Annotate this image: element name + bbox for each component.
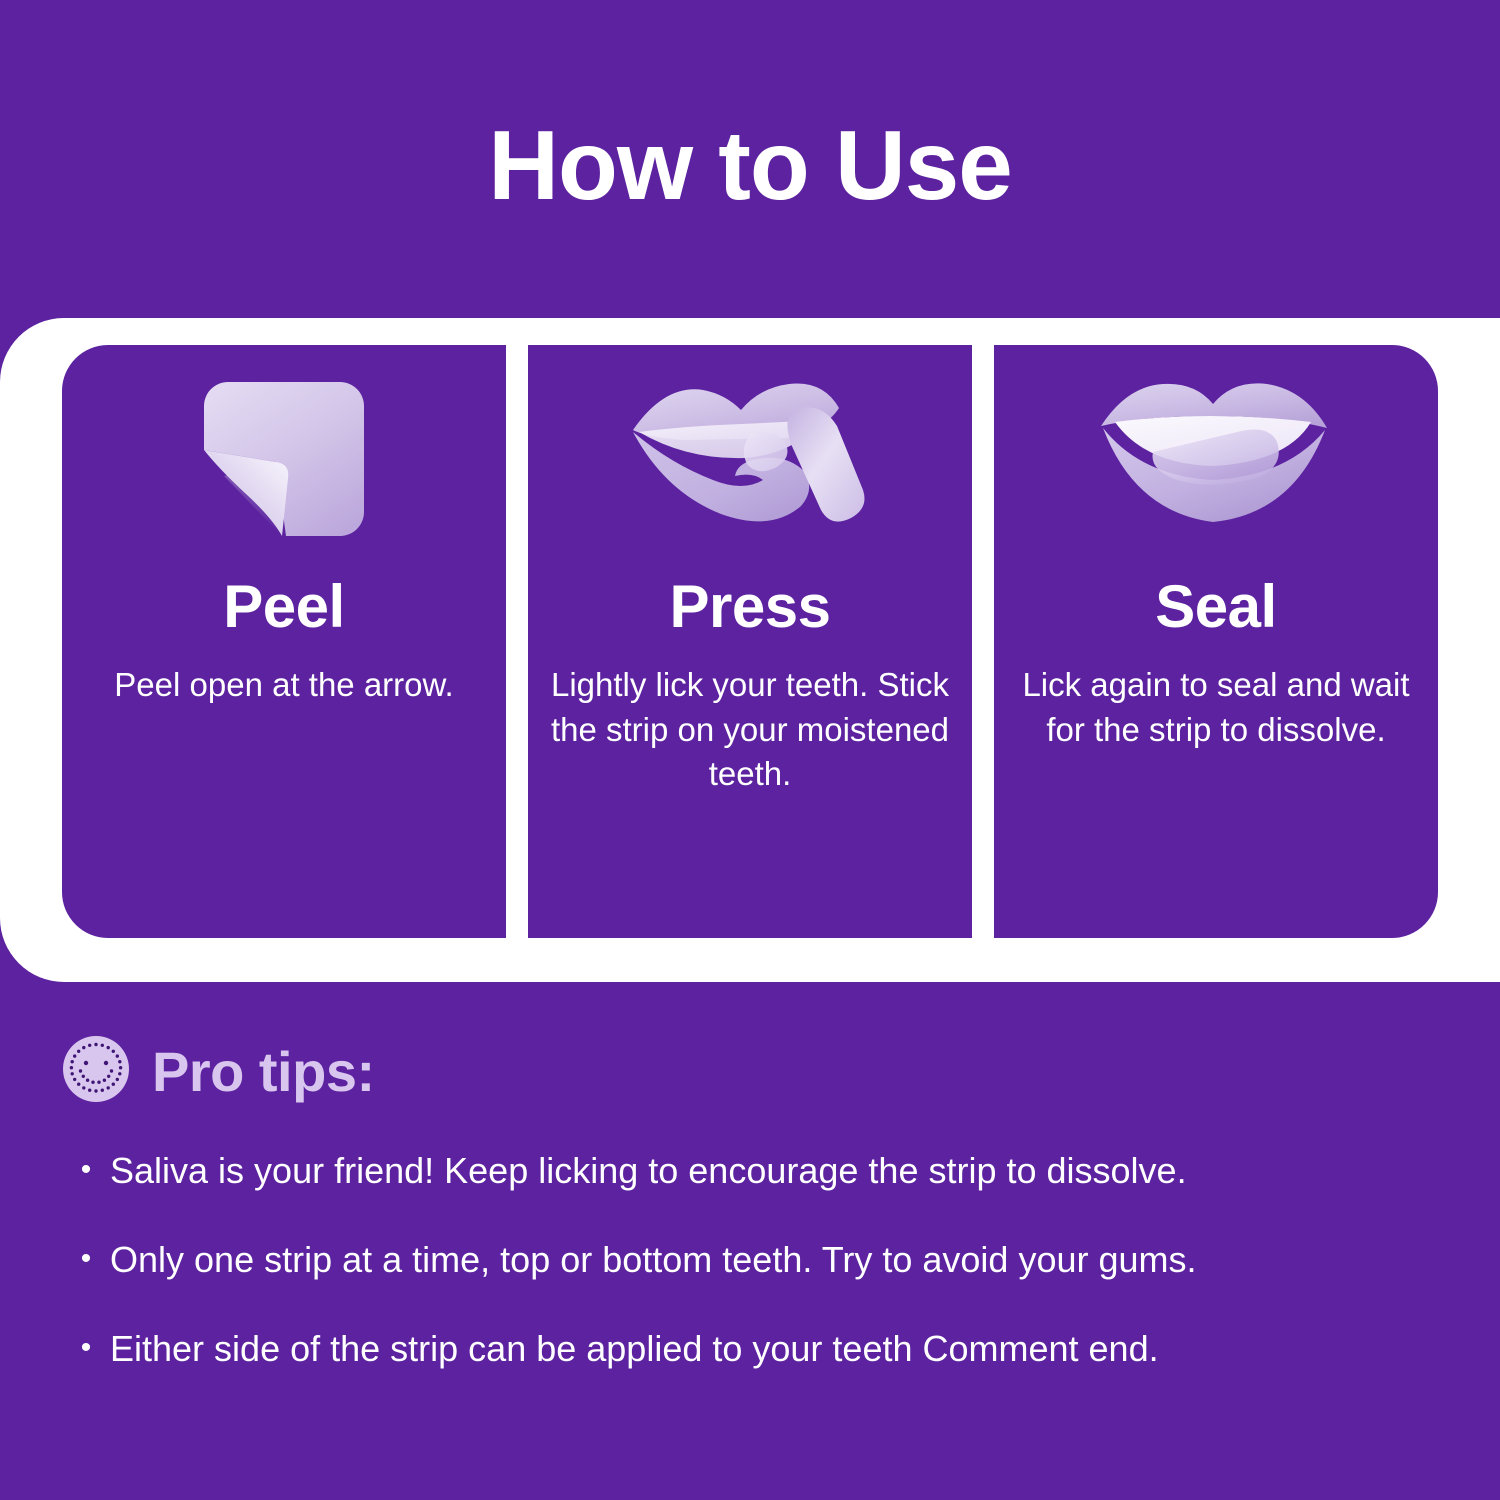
steps-card: Peel Peel open at the arrow. xyxy=(62,345,1438,938)
step-title-peel: Peel xyxy=(223,577,344,637)
bullet-marker: • xyxy=(62,1326,110,1370)
step-desc-press: Lightly lick your teeth. Stick the strip… xyxy=(532,663,968,797)
pro-tips-label: Pro tips: xyxy=(152,1044,375,1100)
step-title-seal: Seal xyxy=(1155,577,1276,637)
step-panel-seal[interactable]: Seal Lick again to seal and wait for the… xyxy=(994,345,1438,938)
pro-tips-header: Pro tips: xyxy=(62,1035,1462,1108)
step-divider-2 xyxy=(972,345,994,938)
pro-tips-section: Pro tips: • Saliva is your friend! Keep … xyxy=(62,1035,1462,1414)
list-item: • Only one strip at a time, top or botto… xyxy=(62,1237,1462,1284)
step-title-press: Press xyxy=(670,577,831,637)
list-item: • Saliva is your friend! Keep licking to… xyxy=(62,1148,1462,1195)
tip-text: Only one strip at a time, top or bottom … xyxy=(110,1237,1462,1284)
step-desc-peel: Peel open at the arrow. xyxy=(96,663,471,708)
step-desc-seal: Lick again to seal and wait for the stri… xyxy=(998,663,1434,752)
lips-finger-press-icon xyxy=(625,367,875,557)
tip-text: Saliva is your friend! Keep licking to e… xyxy=(110,1148,1462,1195)
peeling-strip-icon xyxy=(198,367,370,557)
step-panel-peel[interactable]: Peel Peel open at the arrow. xyxy=(62,345,506,938)
step-divider-1 xyxy=(506,345,528,938)
list-item: • Either side of the strip can be applie… xyxy=(62,1326,1462,1373)
page-title: How to Use xyxy=(0,112,1500,220)
pro-tips-list: • Saliva is your friend! Keep licking to… xyxy=(62,1148,1462,1372)
dotted-smiley-face-icon xyxy=(62,1035,130,1108)
smiling-mouth-strip-icon xyxy=(1091,367,1341,557)
bullet-marker: • xyxy=(62,1148,110,1192)
step-panel-press[interactable]: Press Lightly lick your teeth. Stick the… xyxy=(528,345,972,938)
bullet-marker: • xyxy=(62,1237,110,1281)
tip-text: Either side of the strip can be applied … xyxy=(110,1326,1462,1373)
